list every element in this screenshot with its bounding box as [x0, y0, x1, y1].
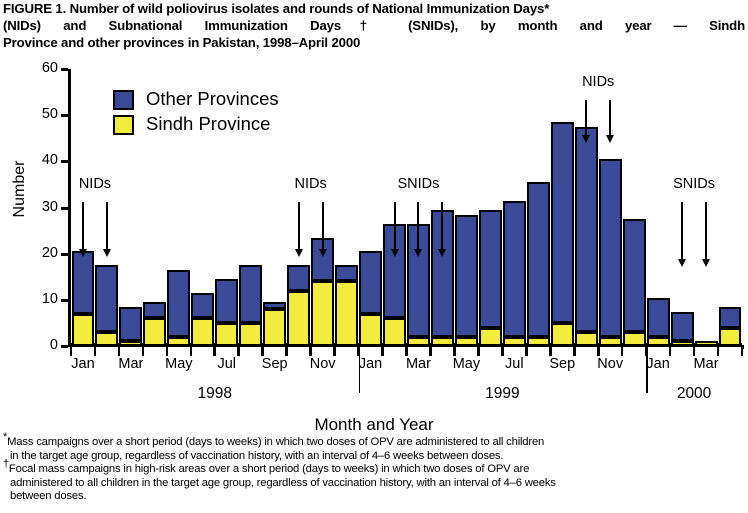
bar-apr-2000: [719, 309, 742, 346]
x-axis-label-sep: Sep: [549, 356, 575, 372]
annotation-label-nids-1: NIDs: [295, 176, 327, 192]
bar-oct-1998: [287, 268, 310, 346]
y-axis-tick-label: 20: [32, 246, 58, 261]
bar-segment-sindh-province: [383, 318, 406, 346]
y-axis-tick: [61, 253, 68, 256]
y-axis-tick: [61, 68, 68, 71]
y-axis-tick-label: 0: [32, 338, 58, 353]
x-axis-ticks: [71, 347, 742, 356]
bar-aug-1999: [527, 184, 550, 346]
bar-jan-1998: [72, 254, 95, 346]
bar-segment-other-provinces: [527, 182, 550, 337]
bar-segment-sindh-province: [671, 341, 694, 346]
y-axis-tick: [61, 345, 68, 348]
x-axis-tick: [477, 347, 480, 356]
annotation-arrow-down-icon: [322, 202, 324, 250]
y-axis-tick-label: 50: [32, 107, 58, 122]
bar-segment-other-provinces: [551, 122, 574, 323]
y-axis-labels: 0102030405060: [24, 60, 58, 360]
bar-segment-sindh-province: [311, 281, 334, 346]
bar-segment-other-provinces: [263, 302, 286, 309]
bar-segment-other-provinces: [95, 265, 118, 332]
bar-segment-other-provinces: [719, 307, 742, 328]
bar-segment-other-provinces: [191, 293, 214, 318]
footnote-1-text-b: in the target age group, regardless of v…: [3, 450, 747, 464]
annotation-label-snids-4: SNIDs: [673, 176, 715, 192]
x-axis-tick: [118, 347, 121, 356]
bar-jan-1999: [359, 254, 382, 346]
annotation-arrow-down-icon: [705, 202, 707, 260]
year-separator: [359, 345, 361, 393]
annotation-arrow-down-icon: [394, 202, 396, 250]
annotation-label-nids-3: NIDs: [582, 74, 614, 90]
year-separator-end: [742, 345, 744, 349]
x-axis-tick: [237, 347, 240, 356]
bar-segment-other-provinces: [359, 251, 382, 313]
chart-legend: Other Provinces Sindh Province: [113, 87, 279, 137]
bar-segment-other-provinces: [167, 270, 190, 337]
y-axis-tick: [61, 207, 68, 210]
x-axis-tick: [693, 347, 696, 356]
x-axis-tick: [501, 347, 504, 356]
x-axis-label-jan: Jan: [71, 356, 94, 372]
footnote-1-text-a: Mass campaigns over a short period (days…: [7, 436, 544, 448]
legend-swatch-other-icon: [113, 90, 134, 110]
bar-aug-1998: [239, 268, 262, 346]
bar-segment-sindh-province: [191, 318, 214, 346]
bar-segment-sindh-province: [239, 323, 262, 346]
figure-title-line2: (NIDs) and Subnational Immunization Days…: [3, 18, 745, 33]
bar-segment-other-provinces: [599, 159, 622, 337]
bar-segment-other-provinces: [287, 265, 310, 290]
bar-segment-other-provinces: [623, 219, 646, 332]
bar-feb-2000: [671, 314, 694, 346]
figure-page: FIGURE 1. Number of wild poliovirus isol…: [0, 0, 748, 513]
x-axis-label-jul: Jul: [217, 356, 236, 372]
legend-label-sindh: Sindh Province: [146, 115, 270, 134]
figure-footnotes: *Mass campaigns over a short period (day…: [3, 436, 747, 504]
footnote-2-text-b: administered to all children in the targ…: [3, 477, 747, 491]
bar-segment-sindh-province: [527, 337, 550, 346]
x-axis-tick: [621, 347, 624, 356]
x-axis-label-nov: Nov: [310, 356, 336, 372]
bar-segment-other-provinces: [455, 215, 478, 337]
x-axis-tick: [429, 347, 432, 356]
annotation-arrow-down-icon: [106, 202, 108, 250]
legend-item-other: Other Provinces: [113, 87, 279, 112]
y-axis-tick-label: 40: [32, 153, 58, 168]
y-axis-tick-label: 10: [32, 292, 58, 307]
footnote-2-text-a: Focal mass campaigns in high-risk areas …: [9, 463, 529, 475]
annotation-arrow-down-icon: [82, 202, 84, 250]
bar-segment-sindh-province: [599, 337, 622, 346]
x-axis-tick: [94, 347, 97, 356]
x-axis-label-jul: Jul: [505, 356, 524, 372]
x-axis-title: Month and Year: [0, 415, 748, 435]
bar-segment-sindh-province: [359, 314, 382, 346]
annotation-label-snids-2: SNIDs: [398, 176, 440, 192]
x-axis-label-may: May: [453, 356, 480, 372]
bar-dec-1998: [335, 268, 358, 346]
annotation-label-nids-0: NIDs: [79, 176, 111, 192]
x-axis-label-mar: Mar: [694, 356, 719, 372]
y-axis-tick: [61, 114, 68, 117]
x-axis-tick: [333, 347, 336, 356]
bar-segment-sindh-province: [431, 337, 454, 346]
y-axis-tick: [61, 160, 68, 163]
bar-segment-other-provinces: [215, 279, 238, 323]
legend-item-sindh: Sindh Province: [113, 112, 279, 137]
year-label-1998: 1998: [198, 385, 232, 403]
x-axis-tick: [453, 347, 456, 356]
bar-may-1998: [167, 272, 190, 346]
bar-segment-other-provinces: [479, 210, 502, 328]
x-axis-tick: [717, 347, 720, 356]
bar-segment-sindh-province: [287, 291, 310, 346]
y-axis-tick-label: 30: [32, 200, 58, 215]
x-axis-tick: [70, 347, 73, 356]
bar-segment-other-provinces: [503, 201, 526, 337]
bar-jan-2000: [647, 300, 670, 346]
bar-segment-sindh-province: [407, 337, 430, 346]
bar-segment-sindh-province: [95, 332, 118, 346]
bar-segment-other-provinces: [335, 265, 358, 281]
bar-oct-1999: [575, 129, 598, 346]
x-axis-tick: [549, 347, 552, 356]
bar-segment-sindh-province: [143, 318, 166, 346]
y-axis-tick-label: 60: [32, 61, 58, 76]
bar-segment-sindh-province: [647, 337, 670, 346]
bar-segment-other-provinces: [671, 312, 694, 342]
bar-segment-sindh-province: [215, 323, 238, 346]
bar-segment-sindh-province: [551, 323, 574, 346]
bar-segment-sindh-province: [719, 328, 742, 346]
footnote-2-text-c: between doses.: [3, 490, 747, 504]
x-axis-label-sep: Sep: [262, 356, 288, 372]
bar-apr-1998: [143, 304, 166, 346]
x-axis-label-mar: Mar: [406, 356, 431, 372]
bar-segment-sindh-province: [455, 337, 478, 346]
footnote-2: †Focal mass campaigns in high-risk areas…: [3, 463, 747, 504]
bar-segment-sindh-province: [119, 341, 142, 346]
bar-jul-1998: [215, 281, 238, 346]
x-axis-label-nov: Nov: [597, 356, 623, 372]
footnote-1: *Mass campaigns over a short period (day…: [3, 436, 747, 463]
bar-nov-1999: [599, 161, 622, 346]
bar-segment-sindh-province: [479, 328, 502, 346]
bar-jun-1999: [479, 212, 502, 346]
bar-segment-sindh-province: [167, 337, 190, 346]
legend-label-other: Other Provinces: [146, 90, 279, 109]
x-axis-tick: [309, 347, 312, 356]
figure-title-line1: FIGURE 1. Number of wild poliovirus isol…: [3, 1, 549, 16]
bar-jun-1998: [191, 295, 214, 346]
x-axis-tick: [669, 347, 672, 356]
bar-segment-sindh-province: [575, 332, 598, 346]
annotation-arrow-down-icon: [609, 100, 611, 136]
x-axis-tick: [573, 347, 576, 356]
x-axis-month-labels: JanMarMayJulSepNovJanMarMayJulSepNovJanM…: [71, 356, 742, 376]
figure-title: FIGURE 1. Number of wild poliovirus isol…: [3, 0, 747, 52]
bar-segment-sindh-province: [72, 314, 95, 346]
x-axis-tick: [190, 347, 193, 356]
bar-segment-sindh-province: [335, 281, 358, 346]
bar-segment-sindh-province: [263, 309, 286, 346]
bar-segment-other-provinces: [239, 265, 262, 323]
x-axis-label-may: May: [165, 356, 192, 372]
x-axis-label-jan: Jan: [359, 356, 382, 372]
bar-feb-1998: [95, 268, 118, 346]
bar-mar-2000: [695, 341, 718, 346]
annotation-arrow-down-icon: [298, 202, 300, 250]
x-axis-tick: [213, 347, 216, 356]
year-separator: [646, 345, 648, 393]
annotation-arrow-down-icon: [441, 202, 443, 250]
year-label-2000: 2000: [677, 385, 711, 403]
bar-segment-sindh-province: [695, 341, 718, 346]
y-axis-tick: [61, 299, 68, 302]
bar-sep-1998: [263, 304, 286, 346]
annotation-arrow-down-icon: [585, 100, 587, 136]
annotation-arrow-down-icon: [681, 202, 683, 260]
bar-may-1999: [455, 217, 478, 346]
bar-sep-1999: [551, 124, 574, 346]
year-label-1999: 1999: [485, 385, 519, 403]
bar-segment-other-provinces: [143, 302, 166, 318]
x-axis-tick: [166, 347, 169, 356]
bar-segment-other-provinces: [119, 307, 142, 342]
chart-plot-area: Number 0102030405060 JanMarMayJulSepNovJ…: [0, 60, 748, 410]
x-axis-label-mar: Mar: [118, 356, 143, 372]
bar-mar-1998: [119, 309, 142, 346]
bar-segment-other-provinces: [575, 127, 598, 332]
bar-jul-1999: [503, 203, 526, 346]
figure-title-line3: Province and other provinces in Pakistan…: [3, 35, 360, 50]
x-axis-tick: [405, 347, 408, 356]
x-axis-tick: [285, 347, 288, 356]
annotation-arrow-down-icon: [417, 202, 419, 250]
bar-segment-other-provinces: [647, 298, 670, 337]
bar-dec-1999: [623, 221, 646, 346]
x-axis-tick: [597, 347, 600, 356]
bar-segment-sindh-province: [623, 332, 646, 346]
x-axis-tick: [261, 347, 264, 356]
legend-swatch-sindh-icon: [113, 115, 134, 135]
x-axis-label-jan: Jan: [646, 356, 669, 372]
bar-segment-sindh-province: [503, 337, 526, 346]
x-axis-tick: [381, 347, 384, 356]
bar-segment-other-provinces: [72, 251, 95, 313]
x-axis-tick: [142, 347, 145, 356]
x-axis-tick: [525, 347, 528, 356]
